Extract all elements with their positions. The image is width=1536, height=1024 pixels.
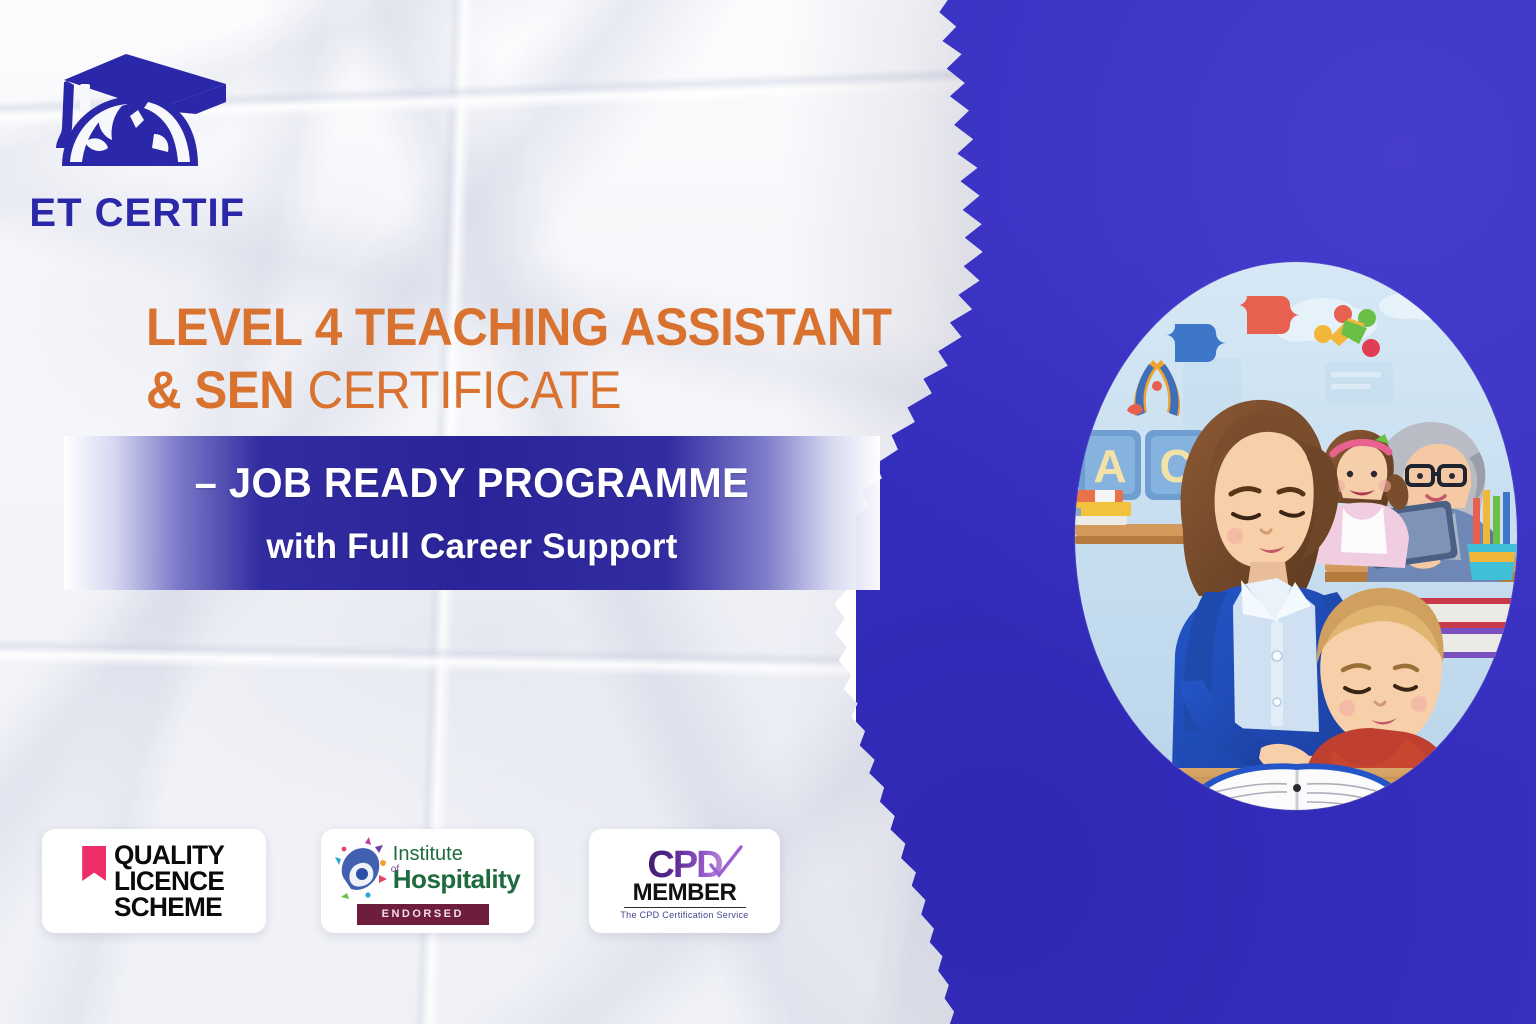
accreditation-badge-row: QUALITY LICENCE SCHEME (42, 829, 780, 933)
qls-wordmark: QUALITY LICENCE SCHEME (114, 842, 224, 920)
ioh-of: of (391, 864, 399, 875)
badge-institute-of-hospitality[interactable]: Institute of Hospitality ENDORSED (321, 829, 534, 933)
page-title: LEVEL 4 TEACHING ASSISTANT & SEN CERTIFI… (146, 300, 906, 419)
confetti-splash-icon (335, 837, 389, 899)
bookmark-icon (82, 846, 106, 881)
ioh-line-1: Institute (393, 844, 520, 864)
poster-canvas: GET CERTIFY LEVEL 4 TEACHING ASSISTANT &… (0, 0, 1536, 1024)
headline-line-1: LEVEL 4 TEACHING ASSISTANT (146, 300, 853, 356)
qls-line-2: LICENCE (114, 868, 224, 894)
job-ready-banner: – JOB READY PROGRAMME with Full Career S… (64, 436, 880, 590)
headline-line-2-strong: & SEN (146, 361, 294, 420)
cpd-subtitle: The CPD Certification Service (620, 910, 748, 920)
stacked-books-left (1075, 490, 1131, 525)
banner-subheadline: with Full Career Support (266, 528, 677, 566)
ioh-endorsed-ribbon: ENDORSED (357, 904, 489, 925)
get-certify-logo[interactable]: GET CERTIFY (26, 36, 244, 236)
qls-line-1: QUALITY (114, 842, 224, 868)
headline-line-2-light: CERTIFICATE (308, 361, 621, 420)
headline-line-2: & SEN CERTIFICATE (146, 363, 853, 419)
cpd-divider (624, 907, 746, 908)
qls-line-3: SCHEME (114, 894, 224, 920)
check-tick-icon (709, 845, 743, 879)
classroom-teaching-assistant-illustration: A C (1075, 262, 1517, 810)
svg-text:GET CERTIFY: GET CERTIFY (26, 191, 244, 235)
banner-headline: – JOB READY PROGRAMME (195, 460, 750, 506)
svg-text:A: A (1093, 440, 1126, 492)
ioh-line-2: Hospitality (393, 865, 520, 893)
badge-quality-licence-scheme[interactable]: QUALITY LICENCE SCHEME (42, 829, 266, 933)
badge-cpd-member[interactable]: CPD MEMBER The CPD Certification Service (589, 829, 780, 933)
cpd-member-label: MEMBER (620, 881, 748, 905)
graduation-cap-globe-icon: GET CERTIFY (26, 54, 244, 235)
